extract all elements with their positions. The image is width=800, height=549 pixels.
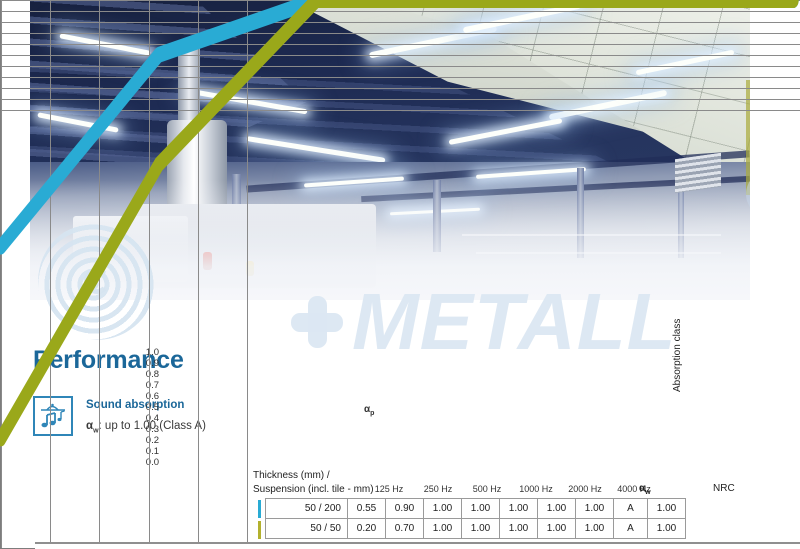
cell-1000hz: 1.00 [462,499,500,519]
page-root: METALL Performance Sound absorption αw [0,0,800,549]
cell-nrc: 1.00 [648,499,686,519]
cell-4000hz: 1.00 [538,499,576,519]
cell-aw: 1.00 [576,499,614,519]
footer-divider [35,542,800,549]
x-tick-label: 250 Hz [414,484,462,494]
row-color-marker-1 [258,500,261,518]
cell-2000hz: 1.00 [500,499,538,519]
table-row: 50 / 50 0.20 0.70 1.00 1.00 1.00 1.00 1.… [266,519,686,539]
chart-series-svg [1,0,800,548]
cell-class: A [614,519,648,539]
cell-class: A [614,499,648,519]
table-header-absorption-class: Absorption class [672,319,683,392]
table-header-left: Thickness (mm) / Suspension (incl. tile … [253,469,374,496]
table-header-thickness: Thickness (mm) / [253,469,374,483]
table-row: 50 / 200 0.55 0.90 1.00 1.00 1.00 1.00 1… [266,499,686,519]
cell-125hz: 0.55 [348,499,386,519]
cell-nrc: 1.00 [648,519,686,539]
chart-plot-area [0,0,800,549]
row-color-marker-2 [258,521,261,539]
cell-125hz: 0.20 [348,519,386,539]
absorption-table: 50 / 200 0.55 0.90 1.00 1.00 1.00 1.00 1… [265,498,686,539]
table-header-nrc: NRC [713,483,735,494]
cell-label: 50 / 200 [266,499,348,519]
cell-2000hz: 1.00 [500,519,538,539]
cell-500hz: 1.00 [424,519,462,539]
cell-500hz: 1.00 [424,499,462,519]
cell-4000hz: 1.00 [538,519,576,539]
series-line-50-200 [1,0,794,247]
x-tick-label: 1000 Hz [512,484,560,494]
cell-1000hz: 1.00 [462,519,500,539]
table-header-aw: αw [639,483,651,496]
cell-250hz: 0.90 [386,499,424,519]
x-tick-label: 500 Hz [463,484,511,494]
cell-aw: 1.00 [576,519,614,539]
cell-label: 50 / 50 [266,519,348,539]
x-tick-label: 2000 Hz [561,484,609,494]
table-header-suspension: Suspension (incl. tile - mm) [253,483,374,497]
cell-250hz: 0.70 [386,519,424,539]
